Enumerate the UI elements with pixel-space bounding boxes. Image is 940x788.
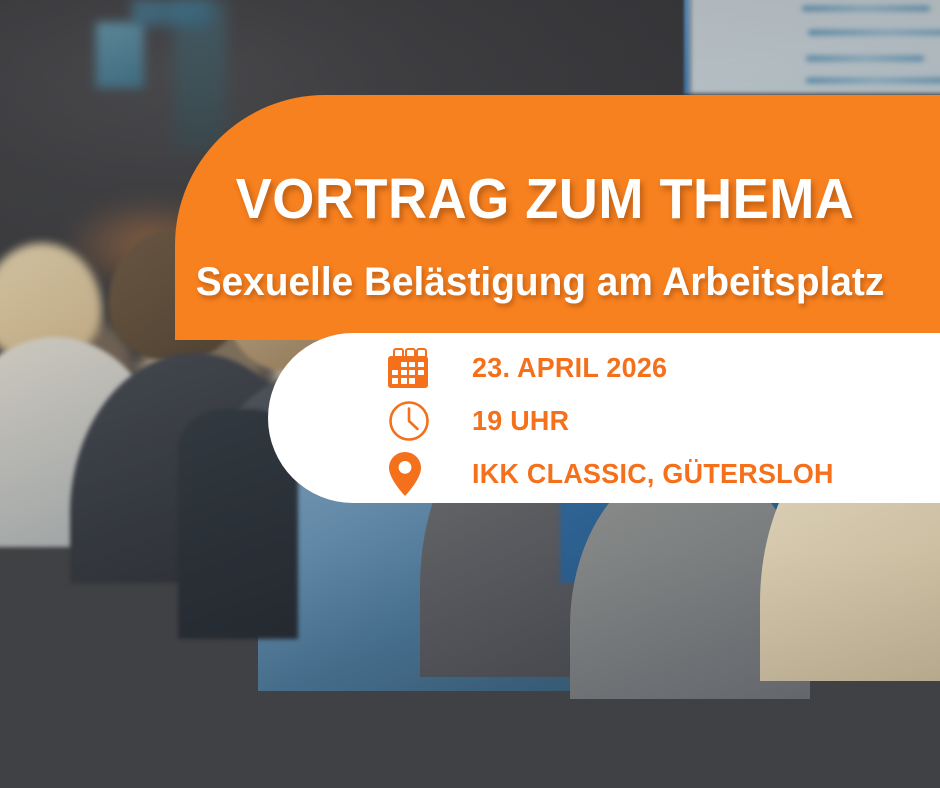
- event-time-row: 19 UHR: [388, 394, 928, 447]
- location-pin-icon: [388, 451, 440, 497]
- event-date-value: 23. APRIL 2026: [472, 352, 667, 384]
- event-date-row: 23. APRIL 2026: [388, 341, 928, 394]
- event-poster: VORTRAG ZUM THEMA Sexuelle Belästigung a…: [0, 0, 940, 788]
- calendar-icon: [388, 345, 440, 391]
- event-details-list: 23. APRIL 2026 19 UHR IKK CLASSIC, GÜTER…: [388, 341, 928, 500]
- page-subtitle: Sexuelle Belästigung am Arbeitsplatz: [152, 258, 928, 306]
- event-time-value: 19 UHR: [472, 405, 569, 437]
- event-location-value: IKK CLASSIC, GÜTERSLOH: [472, 458, 834, 490]
- clock-icon: [388, 398, 440, 444]
- event-location-row: IKK CLASSIC, GÜTERSLOH: [388, 447, 928, 500]
- page-title: VORTRAG ZUM THEMA: [194, 168, 897, 230]
